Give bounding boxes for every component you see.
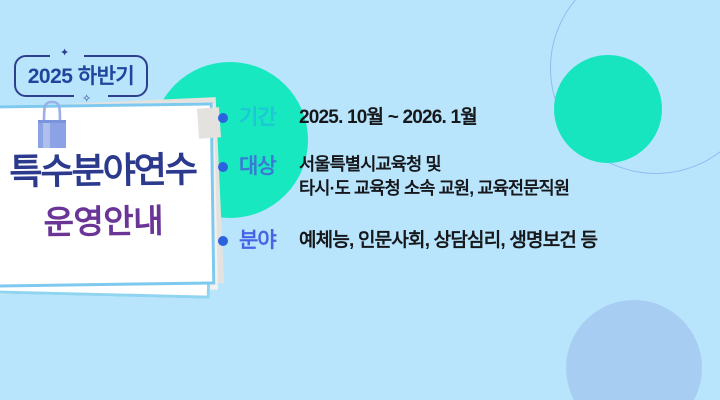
poster-canvas: ✦ ✧ 2025 하반기 특수분야연수 운영안내 기간 2025. 10월 ~ … [0,0,720,400]
sparkle-icon-top: ✦ [60,48,69,59]
info-label-target: 대상 [239,153,291,180]
sparkle-icon-bottom: ✧ [82,94,91,105]
info-row-target: 대상 서울특별시교육청 및 타시·도 교육청 소속 교원, 교육전문직원 [218,153,698,201]
info-row-period: 기간 2025. 10월 ~ 2026. 1월 [218,104,698,131]
bullet-icon-field [218,236,228,246]
blue-circle-decoration-bottom-right [566,300,702,400]
title-line-1: 특수분야연수 [9,151,196,190]
info-value-field: 예체능, 인문사회, 상담심리, 생명보건 등 [299,227,597,254]
info-label-field: 분야 [239,227,291,254]
info-label-period: 기간 [239,104,291,131]
info-row-field: 분야 예체능, 인문사회, 상담심리, 생명보건 등 [218,227,698,254]
info-value-period: 2025. 10월 ~ 2026. 1월 [299,104,477,131]
info-value-target-group: 서울특별시교육청 및 타시·도 교육청 소속 교원, 교육전문직원 [291,153,569,201]
info-value-target-line2: 타시·도 교육청 소속 교원, 교육전문직원 [299,176,569,201]
bullet-icon-target [218,162,228,172]
bullet-icon-period [218,113,228,123]
info-value-target-line1: 서울특별시교육청 및 [299,152,569,177]
info-list: 기간 2025. 10월 ~ 2026. 1월 대상 서울특별시교육청 및 타시… [218,104,698,276]
binder-clip-icon [30,96,74,152]
season-badge: ✦ ✧ 2025 하반기 [14,55,148,97]
season-badge-label: 2025 하반기 [28,66,135,87]
title-line-2: 운영안내 [43,204,163,239]
